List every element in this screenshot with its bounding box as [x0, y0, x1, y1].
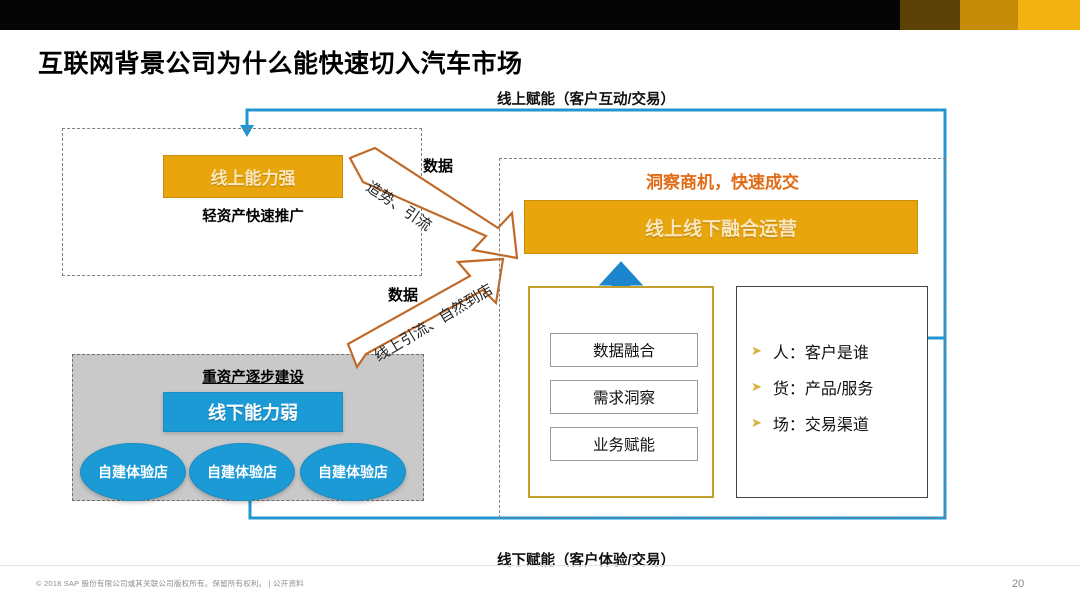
list-item: ➤ 人：客户是谁: [751, 339, 873, 363]
bullet-arrow-icon: ➤: [751, 415, 762, 431]
dimension-label-2: 货：产品/服务: [773, 375, 873, 399]
fusion-headline: 洞察商机，快速成交: [499, 168, 946, 193]
capability-panel: 数据融合 需求洞察 业务赋能: [528, 286, 714, 498]
store-ellipse-1[interactable]: 自建体验店: [80, 443, 186, 501]
capability-chip-1[interactable]: 数据融合: [550, 333, 698, 367]
caption-offline-enablement: 线下赋能（客户体验/交易）: [497, 549, 675, 570]
page-title: 互联网背景公司为什么能快速切入汽车市场: [38, 44, 523, 80]
list-item: ➤ 场：交易渠道: [751, 411, 873, 435]
topbar-black-band: [0, 0, 900, 30]
capability-chip-3[interactable]: 业务赋能: [550, 427, 698, 461]
page-number: 20: [1012, 578, 1024, 590]
topbar-gold-band-2: [960, 0, 1018, 30]
dimension-list: ➤ 人：客户是谁 ➤ 货：产品/服务 ➤ 场：交易渠道: [751, 339, 873, 447]
slide-canvas: 互联网背景公司为什么能快速切入汽车市场 线上赋能（客户互动/交易） 线下赋能（客…: [0, 0, 1080, 611]
topbar-gold-band-3: [1018, 0, 1080, 30]
dimension-panel: ➤ 人：客户是谁 ➤ 货：产品/服务 ➤ 场：交易渠道: [736, 286, 928, 498]
bullet-arrow-icon: ➤: [751, 343, 762, 359]
footer-copyright: © 2018 SAP 股份有限公司或其关联公司版权所有。保留所有权利。 | 公开…: [36, 578, 304, 589]
data-label-top: 数据: [423, 155, 453, 176]
topbar-gold-band-1: [900, 0, 960, 30]
list-item: ➤ 货：产品/服务: [751, 375, 873, 399]
footer-divider: [0, 565, 1080, 566]
fusion-operation-box[interactable]: 线上线下融合运营: [524, 200, 918, 254]
online-capability-container: [62, 128, 422, 276]
dimension-label-1: 人：客户是谁: [773, 339, 869, 363]
data-label-bottom: 数据: [388, 284, 418, 305]
offline-capability-box[interactable]: 线下能力弱: [163, 392, 343, 432]
bullet-arrow-icon: ➤: [751, 379, 762, 395]
offline-heading: 重资产逐步建设: [163, 366, 343, 387]
store-ellipse-2[interactable]: 自建体验店: [189, 443, 295, 501]
capability-chip-2[interactable]: 需求洞察: [550, 380, 698, 414]
caption-online-enablement: 线上赋能（客户互动/交易）: [497, 88, 675, 109]
online-capability-sublabel: 轻资产快速推广: [163, 205, 343, 226]
store-ellipse-3[interactable]: 自建体验店: [300, 443, 406, 501]
online-capability-box[interactable]: 线上能力强: [163, 155, 343, 198]
dimension-label-3: 场：交易渠道: [773, 411, 869, 435]
